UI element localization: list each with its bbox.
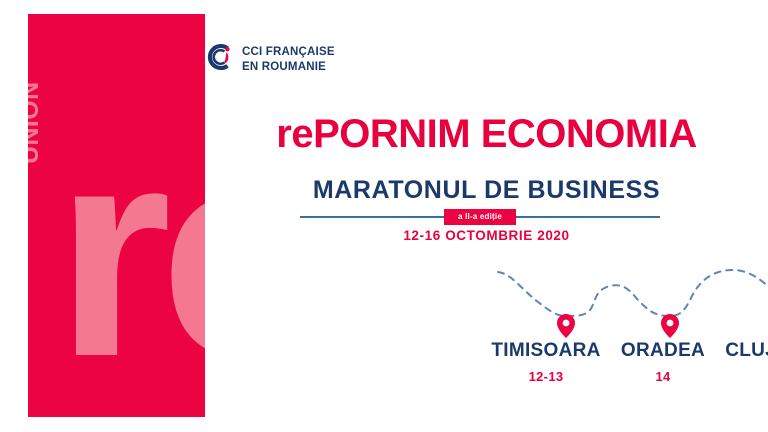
banner-re-monogram: re <box>55 134 205 417</box>
poster-subtitle: MARATONUL DE BUSINESS <box>205 176 768 205</box>
stop-name: ORADEA <box>621 340 705 362</box>
poster-content: rePORNIM ECONOMIA MARATONUL DE BUSINESS … <box>205 0 768 432</box>
poster-canvas: INVEST START WORK SKILL UNION re CCI FRA… <box>0 0 768 432</box>
edition-rule-right <box>516 216 660 218</box>
map-pin-icon <box>661 314 679 338</box>
poster-headline: rePORNIM ECONOMIA <box>205 112 768 157</box>
route-stop-cluj-napoca: CLUJ-NAPOCA 15-16 <box>725 340 768 384</box>
route-stop-oradea: ORADEA 14 <box>621 340 705 384</box>
edition-rule-left <box>300 216 444 218</box>
stop-name: CLUJ-NAPOCA <box>725 340 768 362</box>
stop-dates: 12-13 <box>491 369 600 384</box>
route-map <box>460 258 768 348</box>
stop-dates: 14 <box>621 369 705 384</box>
poster-dateline: 12-16 OCTOMBRIE 2020 <box>205 228 768 243</box>
left-red-banner: INVEST START WORK SKILL UNION re <box>28 14 205 417</box>
edition-badge: a II-a ediție <box>444 209 516 225</box>
map-pin-icon <box>557 314 575 338</box>
edition-badge-row: a II-a ediție <box>300 209 660 225</box>
stop-dates: 15-16 <box>725 369 768 384</box>
route-stops: TIMISOARA 12-13 ORADEA 14 CLUJ-NAPOCA 15… <box>410 340 768 400</box>
stop-name: TIMISOARA <box>491 340 600 362</box>
route-stop-timisoara: TIMISOARA 12-13 <box>491 340 600 384</box>
